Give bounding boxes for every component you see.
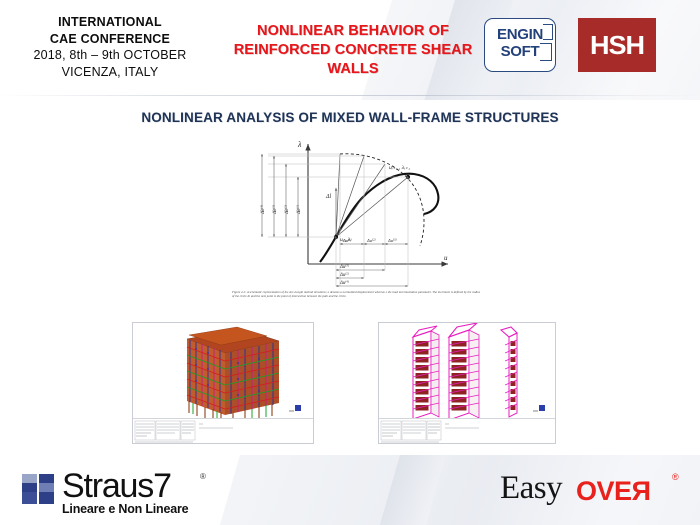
right-fem-legend-svg [379,419,555,443]
conference-location: VICENZA, ITALY [12,64,208,81]
diagram-dlambda-4: Δλ(4) [260,205,266,215]
right-fem-legend-strip [379,418,555,443]
enginsoft-logo-text-top: ENGIN [484,26,556,43]
diagram-du-outer-2: Δu(2) [339,272,349,278]
conference-line-2: CAE CONFERENCE [12,31,208,48]
diagram-du-inner-3: Δu(3) [387,238,397,243]
diagram-arc-length-label: Δl [325,194,332,200]
conference-info: INTERNATIONAL CAE CONFERENCE 2018, 8th –… [12,14,208,80]
left-fem-legend-strip [133,418,313,443]
diagram-x-axis-label: u [444,254,448,262]
slide-subtitle: NONLINEAR ANALYSIS OF MIXED WALL-FRAME S… [0,110,700,125]
easyover-reversed-r: R [632,476,651,507]
shear-wall-2 [449,323,479,419]
straus7-square-6 [39,492,54,504]
conference-line-1: INTERNATIONAL [12,14,208,31]
easyover-registered-mark: ® [672,472,679,482]
conference-dates: 2018, 8th – 9th OCTOBER [12,47,208,64]
left-fem-model-figure [132,322,314,444]
left-fem-axis-triad [289,405,301,411]
arc-length-svg: λ u Δl uᵢ , λᵢ uᵢ₊₁ , λᵢ₊₁ [248,136,498,294]
diagram-dlambda-1: Δλ(1) [296,205,302,215]
straus7-registered-mark: ® [200,472,206,481]
diagram-end-point-label: uᵢ₊₁ , λᵢ₊₁ [389,165,410,171]
straus7-square-5 [22,492,37,504]
left-fem-legend-svg [133,419,313,443]
hsh-logo: HSH [578,18,656,72]
left-fem-svg [133,323,313,419]
diagram-du-outer-4: Δu(4) [339,280,349,286]
enginsoft-logo: ENGIN SOFT [484,18,556,72]
header-divider [0,95,700,96]
easyover-logo: Easy OVER ® [500,472,690,516]
diagram-y-axis-label: λ [297,140,302,149]
left-fem-canvas [133,323,313,419]
easyover-over-prefix: OVE [576,476,632,506]
arc-length-method-diagram: λ u Δl uᵢ , λᵢ uᵢ₊₁ , λᵢ₊₁ [248,136,498,294]
straus7-tagline: Lineare e Non Lineare [62,502,188,516]
easyover-over-text: OVER [576,476,651,507]
enginsoft-logo-notch-bottom [540,43,552,61]
right-fem-axis-triad [533,405,545,411]
diagram-du-inner-2: Δu(2) [366,238,376,243]
diagram-du-outer-3: Δu(3) [339,264,349,270]
hsh-logo-text: HSH [590,30,644,61]
straus7-logo-mark [22,474,58,504]
presentation-slide: INTERNATIONAL CAE CONFERENCE 2018, 8th –… [0,0,700,525]
straus7-wordmark: Straus7 [62,467,171,506]
figure-caption: Figure 2.2: A schematic representation o… [232,290,480,298]
easyover-easy-text: Easy [500,470,562,507]
right-fem-canvas [379,323,555,419]
right-fem-model-figure [378,322,556,444]
diagram-dlambda-3: Δλ(3) [272,205,278,215]
page-title: NONLINEAR BEHAVIOR OF REINFORCED CONCRET… [222,22,484,79]
shear-wall-1 [413,326,439,419]
straus7-logo: Straus7 ® Lineare e Non Lineare [22,470,242,516]
diagram-dlambda-2: Δλ(2) [284,205,290,215]
shear-wall-3 [501,327,517,417]
right-fem-svg [379,323,555,419]
